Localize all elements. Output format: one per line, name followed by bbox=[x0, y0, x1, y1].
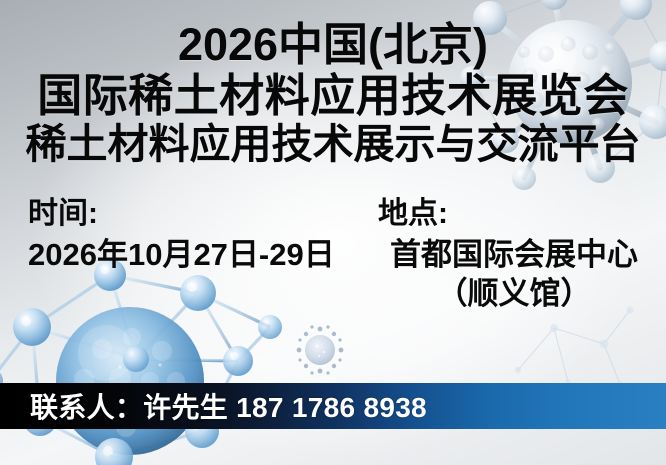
exhibition-poster: 2026中国(北京) 国际稀土材料应用技术展览会 稀土材料应用技术展示与交流平台… bbox=[0, 0, 666, 465]
contact-bar: 联系人：许先生 187 1786 8938 bbox=[0, 383, 666, 429]
event-time-block: 时间: 2026年10月27日-29日 bbox=[0, 196, 362, 274]
title-line-1: 2026中国(北京) bbox=[0, 22, 666, 67]
place-value-line-1: 首都国际会展中心 bbox=[362, 237, 666, 274]
title-line-3: 稀土材料应用技术展示与交流平台 bbox=[0, 124, 666, 165]
event-place-block: 地点: 首都国际会展中心 （顺义馆） bbox=[362, 196, 666, 313]
place-value-line-2: （顺义馆） bbox=[362, 276, 666, 313]
place-label: 地点: bbox=[362, 196, 666, 231]
poster-title-block: 2026中国(北京) 国际稀土材料应用技术展览会 稀土材料应用技术展示与交流平台 bbox=[0, 22, 666, 165]
time-value: 2026年10月27日-29日 bbox=[28, 237, 362, 274]
time-label: 时间: bbox=[28, 196, 362, 231]
title-line-2: 国际稀土材料应用技术展览会 bbox=[0, 73, 666, 118]
small-molecule-dot-sphere-icon bbox=[292, 322, 348, 378]
faint-molecule-lines-icon bbox=[508, 300, 658, 390]
contact-text: 联系人：许先生 187 1786 8938 bbox=[0, 386, 427, 426]
event-info: 时间: 2026年10月27日-29日 地点: 首都国际会展中心 （顺义馆） bbox=[0, 196, 666, 313]
